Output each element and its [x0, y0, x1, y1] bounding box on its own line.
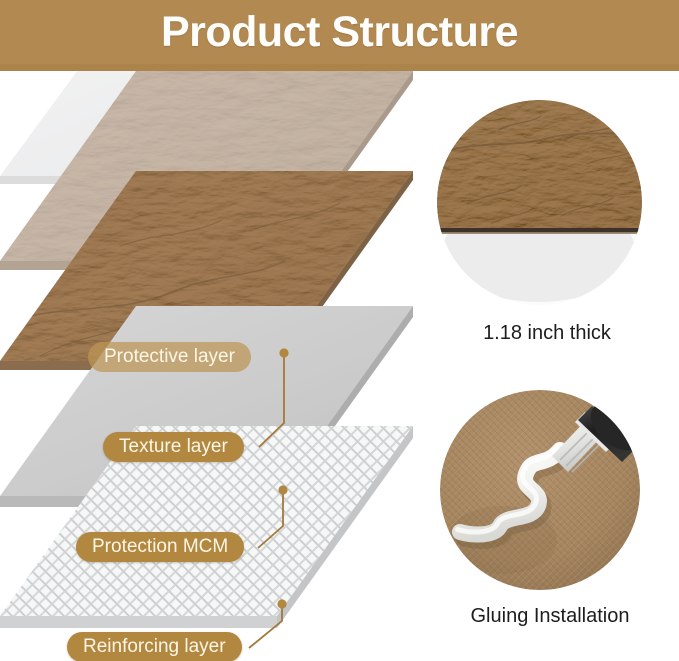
- gluing-illustration: [440, 390, 640, 590]
- label-reinforcing-layer-text: Reinforcing layer: [83, 636, 226, 658]
- label-protection-mcm-text: Protection MCM: [92, 536, 228, 558]
- exploded-layer-stack: Protective layer Texture layer Protectio…: [0, 71, 440, 661]
- detail-gluing: Gluing Installation: [440, 390, 660, 640]
- leader-dot-mcm: [278, 485, 287, 494]
- page-title: Product Structure: [0, 0, 679, 64]
- label-protective-layer[interactable]: Protective layer: [88, 342, 251, 372]
- label-protective-layer-text: Protective layer: [104, 346, 235, 368]
- label-reinforcing-layer[interactable]: Reinforcing layer: [67, 632, 242, 661]
- header-banner: Product Structure: [0, 0, 679, 71]
- caption-gluing: Gluing Installation: [440, 605, 660, 628]
- stone-edge-illustration: [437, 100, 642, 305]
- banner-bottom-edge: [0, 64, 679, 71]
- stone-panel-edge-photo: [437, 100, 642, 305]
- leader-dot-texture: [279, 348, 288, 357]
- label-texture-layer[interactable]: Texture layer: [103, 432, 244, 462]
- infographic-canvas: Product Structure: [0, 0, 679, 661]
- adhesive-tube-photo: [440, 390, 640, 590]
- label-texture-layer-text: Texture layer: [119, 436, 228, 458]
- caption-thickness: 1.18 inch thick: [437, 322, 657, 345]
- label-protection-mcm[interactable]: Protection MCM: [76, 532, 244, 562]
- detail-thickness: 1.18 inch thick: [437, 100, 657, 350]
- leader-dot-reinforcing: [277, 599, 286, 608]
